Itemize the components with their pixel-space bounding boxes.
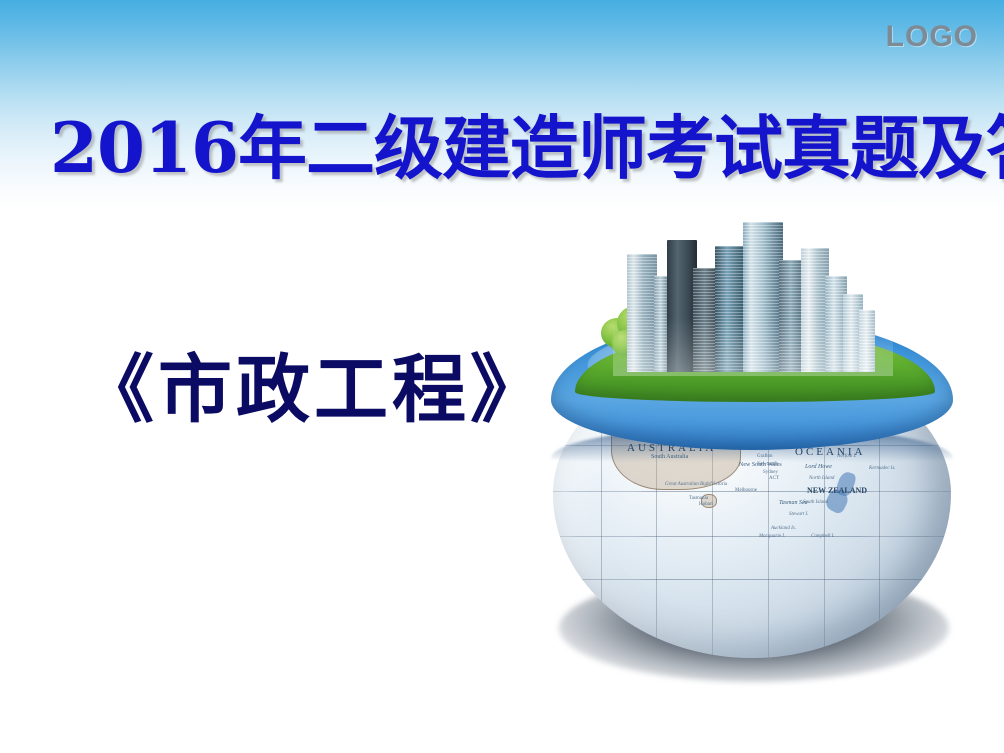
latitude-line <box>553 579 951 580</box>
latitude-line <box>553 536 951 537</box>
globe-city-illustration: AUSTRALIA OCEANIA NEW ZEALAND VANUATU FI… <box>553 222 953 677</box>
landmass-tasmania <box>701 494 717 508</box>
map-label-stewart-island: Stewart I. <box>789 512 808 517</box>
skyscraper <box>654 276 667 372</box>
map-label-kermadec-islands: Kermadec Is. <box>869 466 896 471</box>
latitude-line <box>553 491 951 492</box>
skyscraper <box>743 222 783 372</box>
page-subtitle: 《市政工程》 <box>80 352 548 430</box>
map-label-act: ACT <box>769 476 779 481</box>
presentation-slide: LOGO 2016年二级建造师考试真题及答案 《市政工程》 <box>0 0 1004 753</box>
logo-text[interactable]: LOGO <box>886 20 978 54</box>
skyscraper <box>627 254 657 372</box>
skyscraper <box>859 310 875 372</box>
map-label-new-south-wales: New South Wales <box>739 462 782 468</box>
map-label-auckland-islands: Auckland Is. <box>771 526 796 531</box>
map-label-tasman-sea: Tasman Sea <box>779 500 808 506</box>
city-skyline <box>627 222 877 372</box>
map-label-sydney: Sydney <box>763 470 778 475</box>
page-title: 2016年二级建造师考试真题及答案 <box>50 112 970 187</box>
map-label-north-island: North Island <box>809 476 834 481</box>
map-label-lord-howe: Lord Howe <box>805 464 832 470</box>
